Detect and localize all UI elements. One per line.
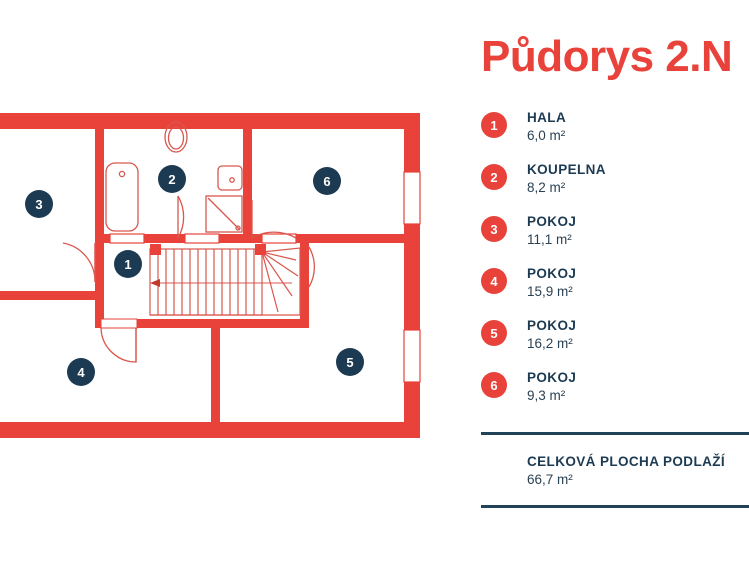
divider-bottom <box>481 505 749 508</box>
legend-badge-1: 1 <box>481 112 507 138</box>
legend-area-2: 8,2 m² <box>527 179 606 197</box>
wall-exterior-bottom <box>0 422 420 438</box>
list-item: 1 HALA 6,0 m² <box>481 110 749 162</box>
window-hall-top <box>110 234 144 243</box>
svg-text:2: 2 <box>168 172 175 187</box>
svg-text:4: 4 <box>77 365 85 380</box>
legend-badge-4: 4 <box>481 268 507 294</box>
door-swing-room4 <box>101 327 136 362</box>
legend-area-1: 6,0 m² <box>527 127 566 145</box>
wall-interior-v2 <box>243 113 252 243</box>
wall-interior-v1 <box>95 113 104 243</box>
shower-diagonal-icon <box>208 198 240 230</box>
floorplan-page: 3 2 6 1 4 <box>0 0 749 562</box>
legend-name-1: HALA <box>527 110 566 127</box>
window-right-upper <box>404 172 420 224</box>
legend-area-3: 11,1 m² <box>527 231 576 249</box>
svg-text:3: 3 <box>35 197 42 212</box>
legend-name-4: POKOJ <box>527 266 576 283</box>
list-item: 3 POKOJ 11,1 m² <box>481 214 749 266</box>
room-legend-list: 1 HALA 6,0 m² 2 KOUPELNA 8,2 m² 3 POKOJ … <box>481 110 749 422</box>
wall-exterior-right <box>404 113 420 438</box>
sink-drain-icon <box>230 178 234 182</box>
list-item: 4 POKOJ 15,9 m² <box>481 266 749 318</box>
total-area-section: CELKOVÁ PLOCHA PODLAŽÍ 66,7 m² <box>481 432 749 508</box>
wall-interior-v6 <box>95 237 104 323</box>
list-item: 5 POKOJ 16,2 m² <box>481 318 749 370</box>
bathtub-icon <box>106 163 138 231</box>
window-group <box>110 172 420 382</box>
legend-area-4: 15,9 m² <box>527 283 576 301</box>
toilet-bowl-icon <box>169 127 184 149</box>
svg-text:5: 5 <box>346 355 353 370</box>
room-marker-3: 3 <box>25 190 53 218</box>
legend-name-3: POKOJ <box>527 214 576 231</box>
room-marker-1: 1 <box>114 250 142 278</box>
legend-area-5: 16,2 m² <box>527 335 576 353</box>
bathtub-drain-icon <box>119 171 124 176</box>
page-title: Půdorys 2.N <box>481 34 732 80</box>
legend-area-6: 9,3 m² <box>527 387 576 405</box>
wall-group <box>0 113 420 438</box>
door-swing-hall-room5 <box>309 247 314 287</box>
wall-exterior-top <box>0 113 420 129</box>
door-swing-bathroom <box>178 196 184 238</box>
list-item: 6 POKOJ 9,3 m² <box>481 370 749 422</box>
list-item: 2 KOUPELNA 8,2 m² <box>481 162 749 214</box>
legend-badge-5: 5 <box>481 320 507 346</box>
total-area-value: 66,7 m² <box>527 471 749 489</box>
window-right-lower <box>404 330 420 382</box>
legend-badge-3: 3 <box>481 216 507 242</box>
door-swing-room3 <box>63 243 95 282</box>
floor-plan-drawing: 3 2 6 1 4 <box>0 0 440 562</box>
wall-interior-v4 <box>300 243 309 328</box>
staircase-icon <box>150 244 300 315</box>
room-marker-5: 5 <box>336 348 364 376</box>
wall-interior-v5 <box>211 322 220 424</box>
window-hall-top-2 <box>185 234 219 243</box>
room-marker-4: 4 <box>67 358 95 386</box>
door-threshold-group <box>101 319 137 328</box>
wall-interior-h4 <box>0 291 102 300</box>
legend-badge-2: 2 <box>481 164 507 190</box>
svg-text:1: 1 <box>124 257 131 272</box>
door-threshold-room4 <box>101 319 137 328</box>
room-marker-2: 2 <box>158 165 186 193</box>
legend-panel: Půdorys 2.N 1 HALA 6,0 m² 2 KOUPELNA 8,2… <box>470 0 749 562</box>
total-area-label: CELKOVÁ PLOCHA PODLAŽÍ <box>527 453 749 471</box>
legend-name-5: POKOJ <box>527 318 576 335</box>
legend-name-6: POKOJ <box>527 370 576 387</box>
legend-name-2: KOUPELNA <box>527 162 606 179</box>
svg-text:6: 6 <box>323 174 330 189</box>
legend-badge-6: 6 <box>481 372 507 398</box>
room-marker-6: 6 <box>313 167 341 195</box>
